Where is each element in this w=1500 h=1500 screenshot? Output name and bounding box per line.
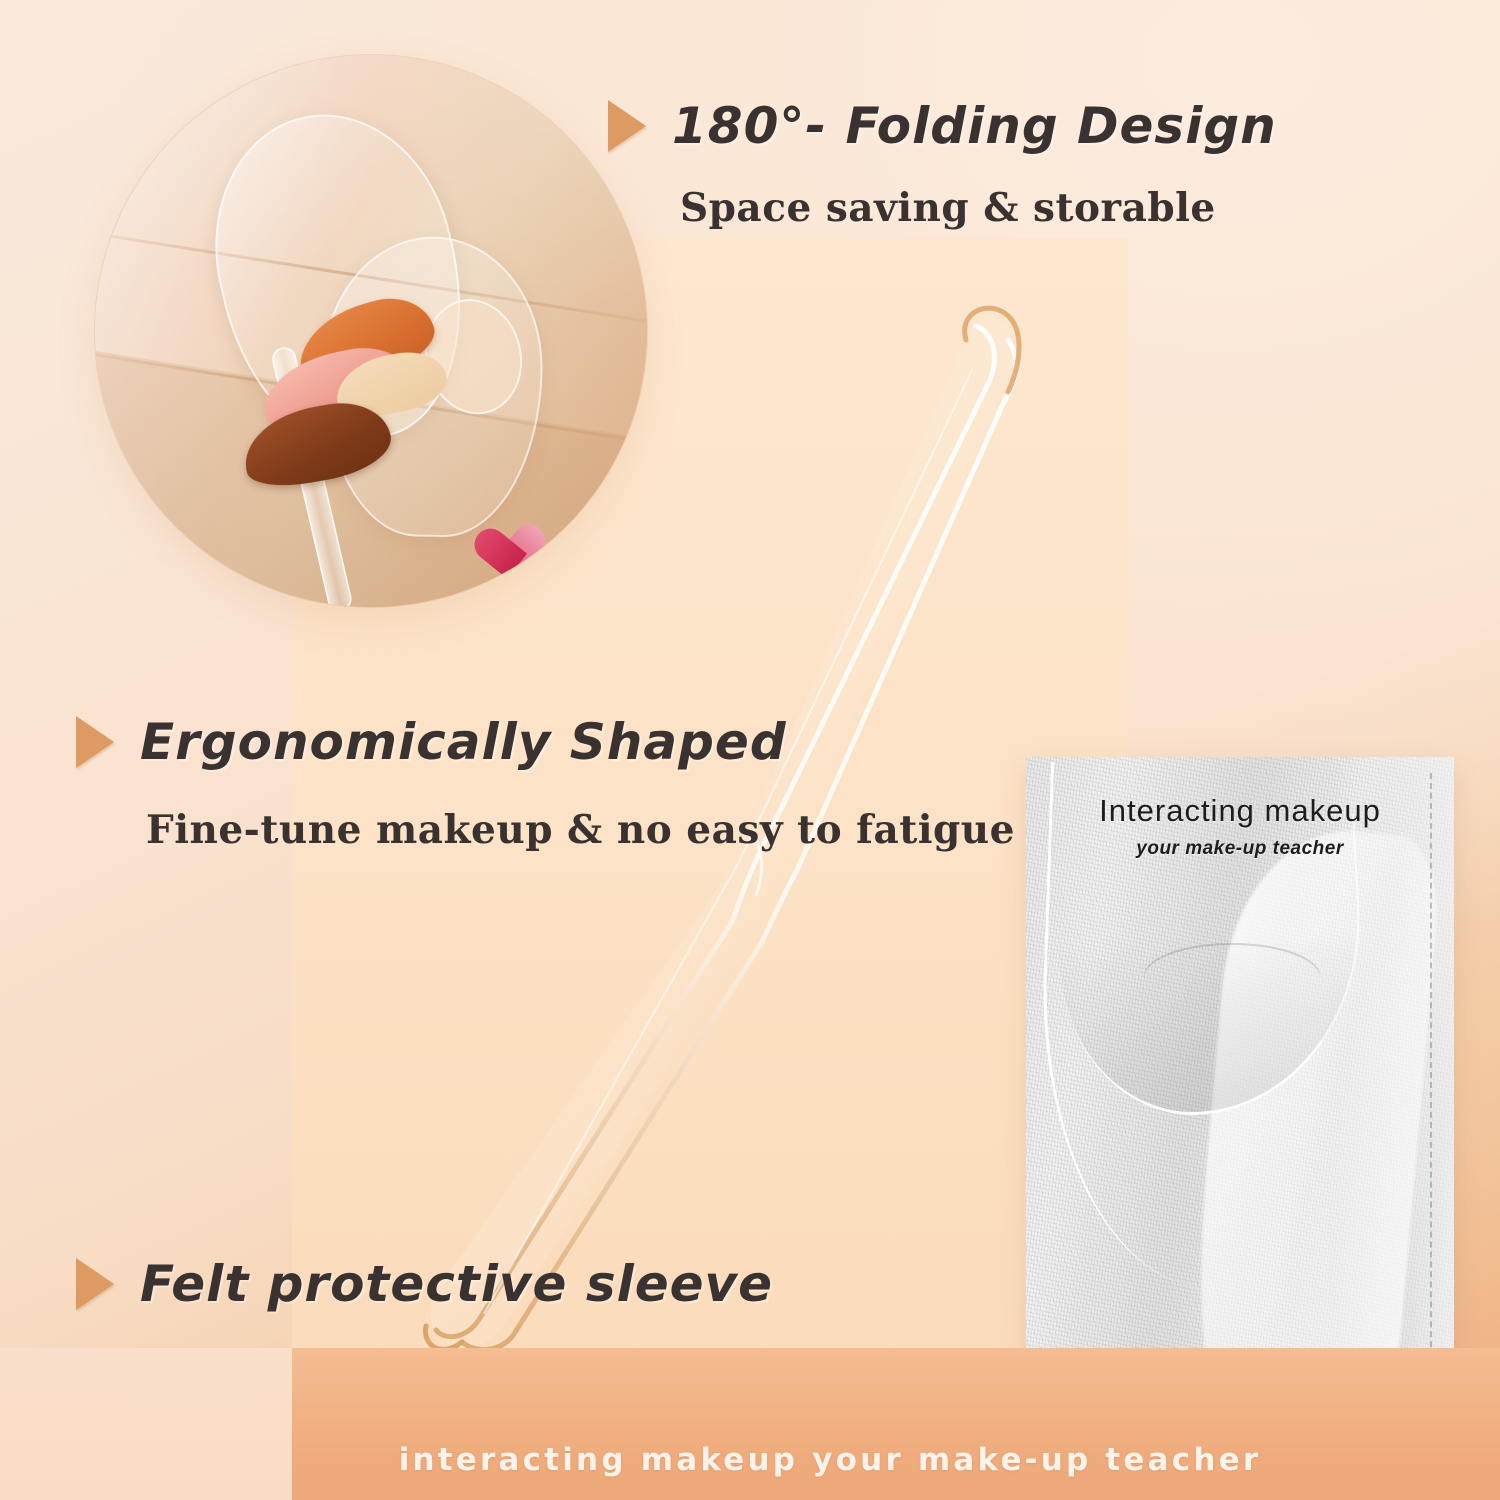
pouch-sheen	[1334, 757, 1454, 1447]
feature-headline: 180°- Folding Design	[672, 100, 1277, 153]
pouch-branding: Interacting makeup your make-up teacher	[1026, 795, 1454, 860]
play-triangle-icon	[608, 100, 646, 152]
pouch-title: Interacting makeup	[1026, 795, 1454, 826]
feature-headline-row: 180°- Folding Design	[608, 100, 1277, 153]
feature-subline: Space saving & storable	[680, 185, 1277, 231]
feature-headline-row: Ergonomically Shaped	[76, 716, 1015, 769]
feature-ergonomically-shaped: Ergonomically Shaped Fine-tune makeup & …	[76, 716, 1015, 853]
feature-headline: Ergonomically Shaped	[140, 716, 787, 769]
infographic-canvas: Interacting makeup your make-up teacher …	[0, 0, 1500, 1500]
circle-product-photo	[95, 55, 647, 607]
pouch-stitching-right	[1430, 773, 1432, 1407]
footer-brand-text: interacting makeup your make-up teacher	[0, 1442, 1500, 1478]
feature-subline: Fine-tune makeup & no easy to fatigue	[146, 807, 1015, 853]
play-triangle-icon	[76, 716, 114, 768]
heart-icon	[460, 504, 528, 568]
feature-folding-design: 180°- Folding Design Space saving & stor…	[608, 100, 1277, 231]
play-triangle-icon	[76, 1258, 114, 1310]
feature-headline-row: Felt protective sleeve	[76, 1258, 993, 1311]
felt-pouch-photo: Interacting makeup your make-up teacher	[1026, 757, 1454, 1447]
pouch-subtitle: your make-up teacher	[1026, 838, 1454, 860]
feature-headline: Felt protective sleeve	[140, 1258, 773, 1311]
